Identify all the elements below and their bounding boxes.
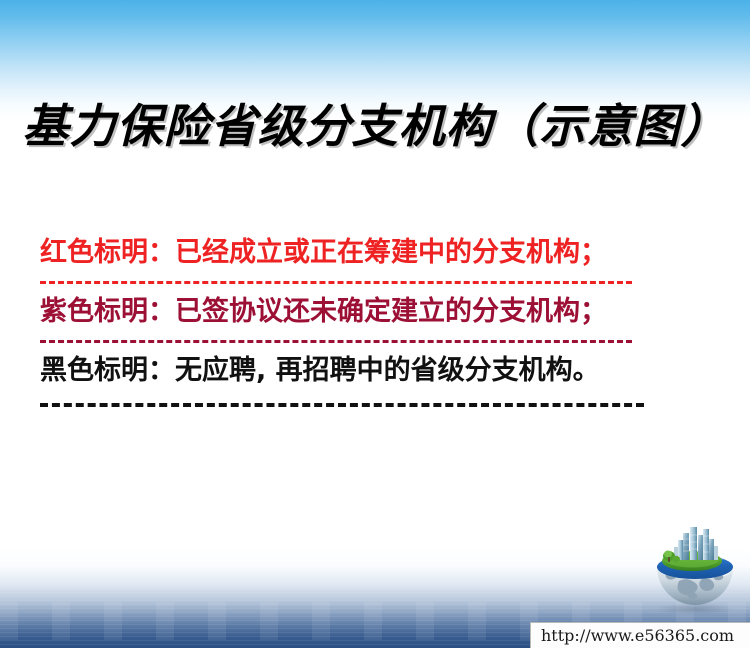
- legend-body-purple: 已签协议还未确定建立的分支机构；: [175, 296, 607, 327]
- watermark-url-box: http://www.e56365.com: [530, 622, 750, 648]
- legend-row-red: 红色标明：已经成立或正在筹建中的分支机构；: [40, 234, 710, 284]
- legend-text-black: 黑色标明：无应聘, 再招聘中的省级分支机构。: [40, 352, 710, 390]
- legend-divider-purple: [40, 340, 632, 343]
- legend-row-black: 黑色标明：无应聘, 再招聘中的省级分支机构。: [40, 352, 710, 407]
- legend-row-purple: 紫色标明：已签协议还未确定建立的分支机构；: [40, 293, 710, 343]
- legend-label-purple: 紫色标明：: [40, 296, 175, 327]
- slide-canvas: 基力保险省级分支机构（示意图） 红色标明：已经成立或正在筹建中的分支机构； 紫色…: [0, 0, 750, 648]
- legend-divider-black: [40, 403, 644, 407]
- legend-divider-red: [40, 281, 632, 284]
- legend-label-black: 黑色标明：: [40, 355, 175, 386]
- legend-text-red: 红色标明：已经成立或正在筹建中的分支机构；: [40, 234, 710, 272]
- legend-text-purple: 紫色标明：已签协议还未确定建立的分支机构；: [40, 293, 710, 331]
- globe-city-logo-icon: [645, 523, 743, 615]
- legend-block: 红色标明：已经成立或正在筹建中的分支机构； 紫色标明：已签协议还未确定建立的分支…: [40, 234, 710, 416]
- page-title: 基力保险省级分支机构（示意图）: [0, 98, 750, 154]
- legend-body-red: 已经成立或正在筹建中的分支机构；: [175, 237, 607, 268]
- watermark-url-text: http://www.e56365.com: [541, 626, 734, 645]
- legend-label-red: 红色标明：: [40, 237, 175, 268]
- legend-body-black: 无应聘, 再招聘中的省级分支机构。: [175, 355, 600, 386]
